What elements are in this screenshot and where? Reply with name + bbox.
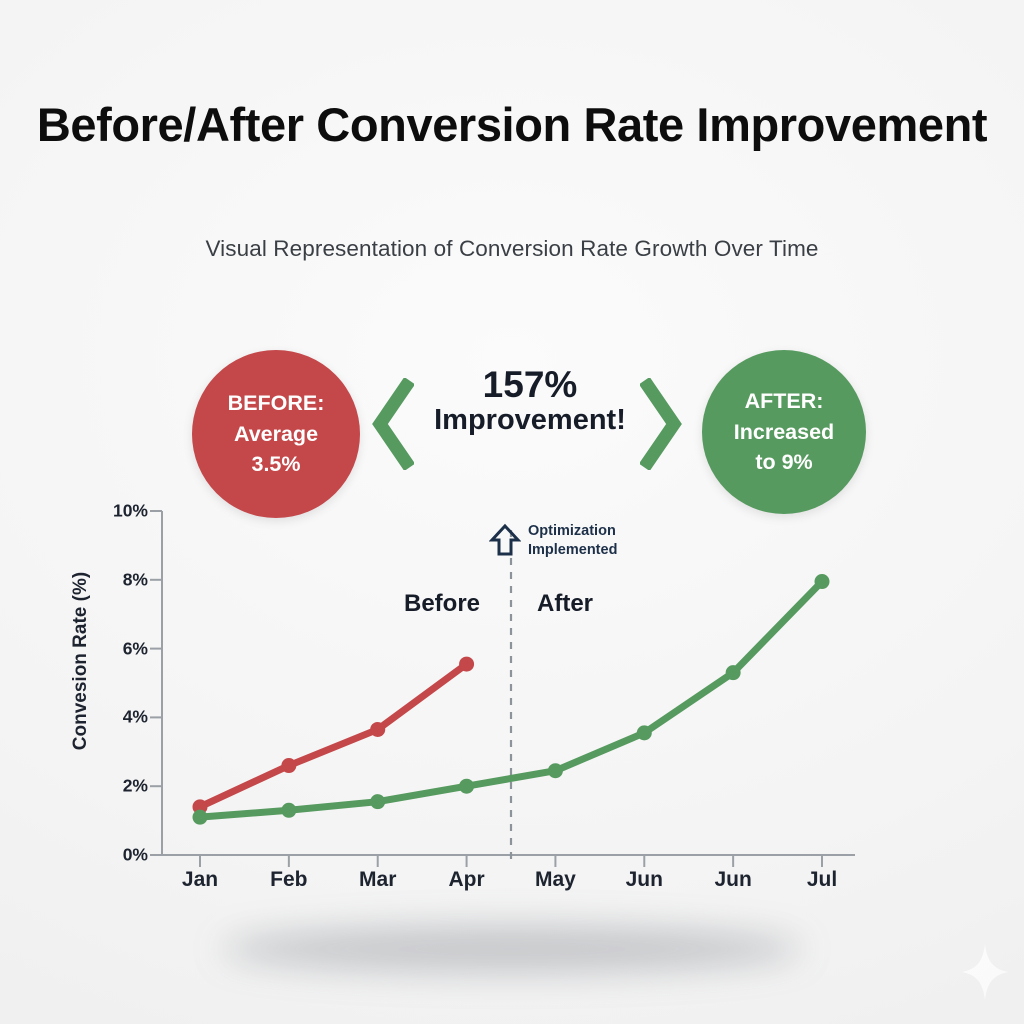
infographic-card: Before/After Conversion Rate Improvement… — [0, 0, 1024, 1024]
section-label-before: Before — [404, 590, 480, 618]
data-point-after — [370, 794, 385, 809]
line-chart: Convesion Rate (%) 0%2%4%6%8%10% JanFebM… — [0, 0, 1024, 1024]
y-tick-label: 4% — [92, 707, 148, 728]
x-tick-label: Jun — [688, 868, 778, 892]
data-point-after — [193, 810, 208, 825]
x-tick-label: Feb — [244, 868, 334, 892]
y-tick-label: 0% — [92, 845, 148, 866]
y-tick-label: 6% — [92, 638, 148, 659]
data-point-after — [459, 779, 474, 794]
data-point-after — [815, 574, 830, 589]
data-point-before — [459, 657, 474, 672]
optimization-annotation: Optimization Implemented — [528, 522, 617, 560]
x-tick-label: Apr — [422, 868, 512, 892]
annotation-line-2: Implemented — [528, 541, 617, 560]
y-tick-label: 10% — [92, 501, 148, 522]
data-point-after — [726, 665, 741, 680]
x-tick-label: May — [510, 868, 600, 892]
data-point-before — [370, 722, 385, 737]
y-axis-title: Convesion Rate (%) — [70, 536, 92, 786]
section-label-after: After — [537, 590, 593, 618]
y-axis-ticks — [150, 511, 162, 855]
y-tick-label: 2% — [92, 776, 148, 797]
x-tick-label: Jul — [777, 868, 867, 892]
x-tick-label: Jun — [599, 868, 689, 892]
y-tick-label: 8% — [92, 569, 148, 590]
data-point-after — [548, 763, 563, 778]
x-tick-label: Mar — [333, 868, 423, 892]
data-point-after — [637, 725, 652, 740]
up-arrow-icon — [489, 521, 521, 559]
x-tick-label: Jan — [155, 868, 245, 892]
sparkle-icon — [962, 944, 1008, 1000]
data-point-after — [281, 803, 296, 818]
data-point-before — [281, 758, 296, 773]
series-line-before — [200, 664, 467, 807]
annotation-line-1: Optimization — [528, 522, 617, 541]
